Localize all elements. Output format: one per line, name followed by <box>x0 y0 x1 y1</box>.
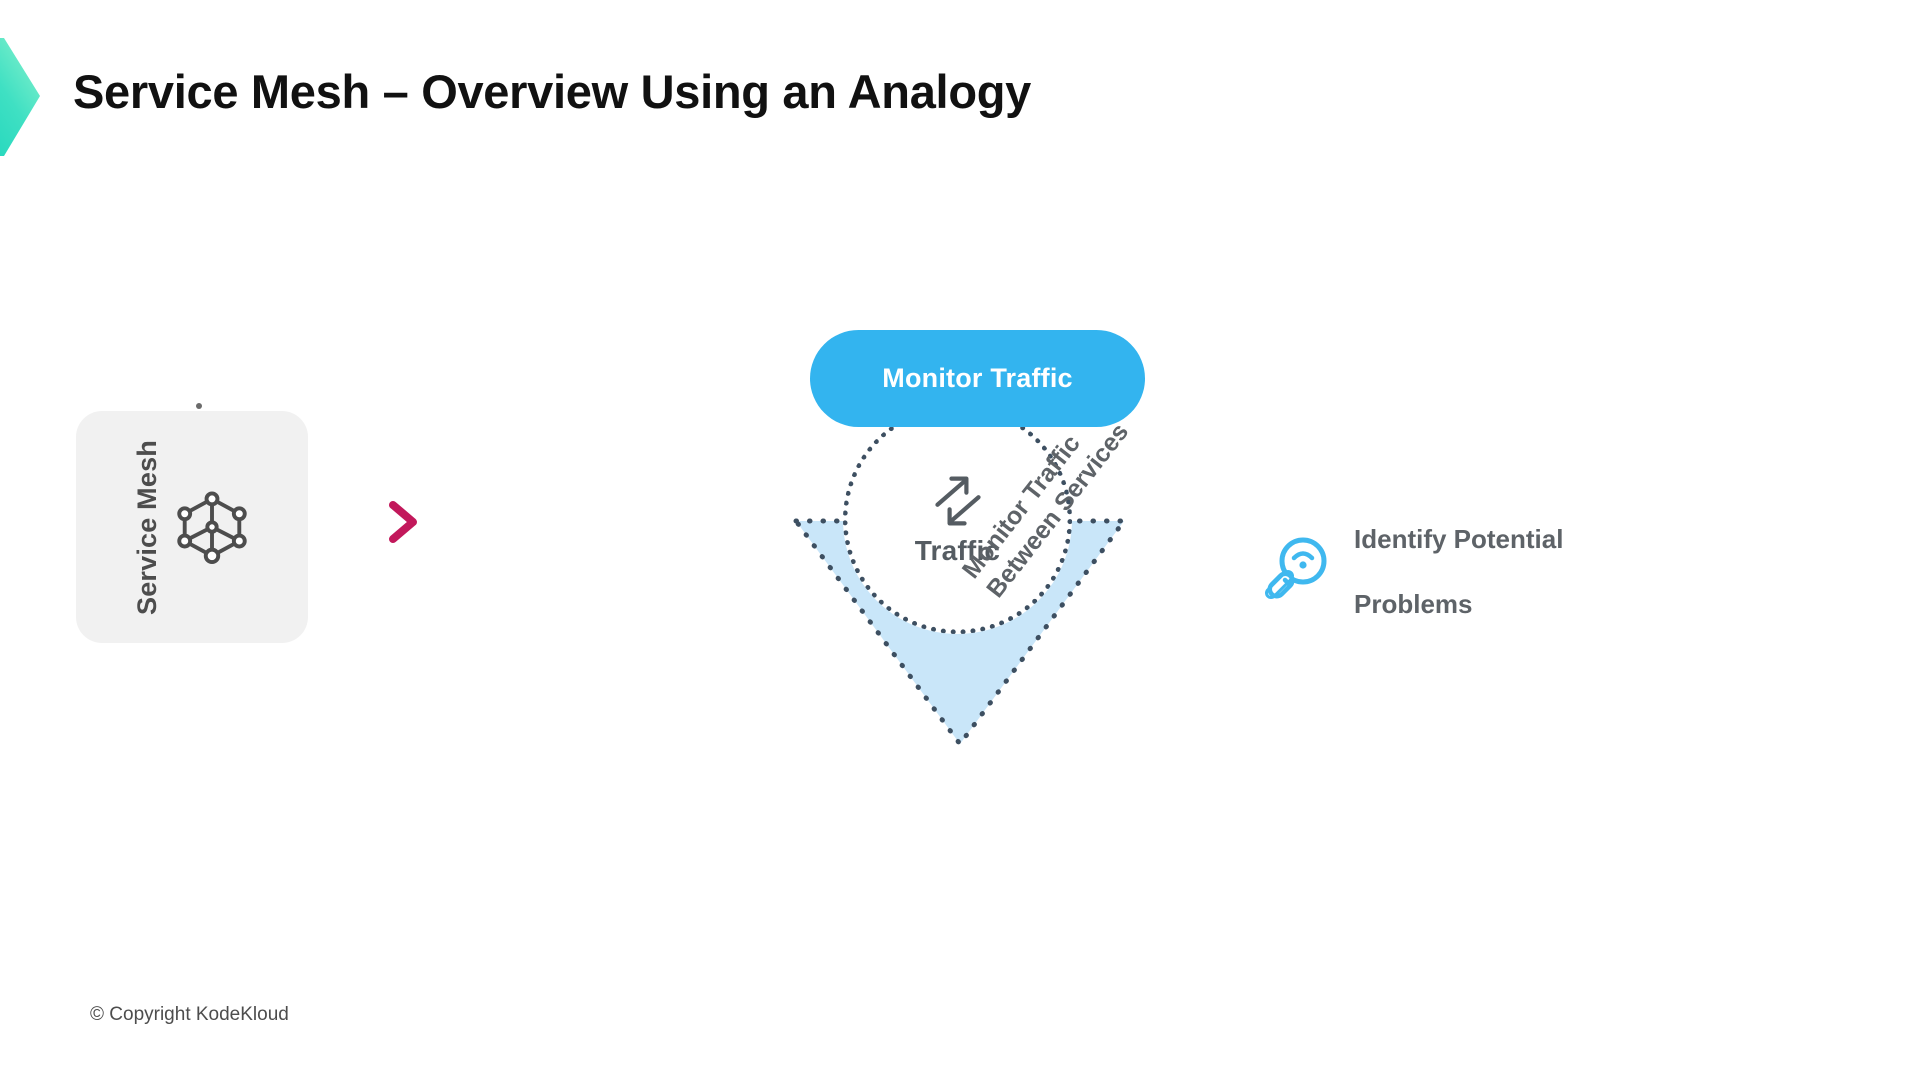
chevron-right-gradient-icon <box>0 38 40 158</box>
monitor-traffic-funnel: Monitor Traffic Traffic Monitor Traffic … <box>790 330 1150 750</box>
identify-problems-line1: Identify Potential <box>1354 523 1563 556</box>
identify-problems-group: Identify Potential Problems <box>1258 490 1563 653</box>
card-accent-dot <box>196 403 202 409</box>
chevron-right-icon <box>385 500 421 544</box>
bidirectional-traffic-arrows-icon <box>930 473 986 529</box>
service-mesh-label: Service Mesh <box>134 440 161 615</box>
slide-canvas: Service Mesh – Overview Using an Analogy… <box>0 0 1920 1080</box>
monitor-traffic-button-label: Monitor Traffic <box>882 363 1073 394</box>
magnifier-signal-icon <box>1258 534 1332 608</box>
service-mesh-card-inner: Service Mesh <box>76 411 308 643</box>
identify-problems-line2: Problems <box>1354 588 1563 621</box>
mesh-network-icon <box>173 488 251 566</box>
page-title: Service Mesh – Overview Using an Analogy <box>73 64 1031 119</box>
copyright-text: © Copyright KodeKloud <box>90 1004 289 1026</box>
identify-problems-label: Identify Potential Problems <box>1354 490 1563 653</box>
service-mesh-card[interactable]: Service Mesh <box>76 411 308 643</box>
